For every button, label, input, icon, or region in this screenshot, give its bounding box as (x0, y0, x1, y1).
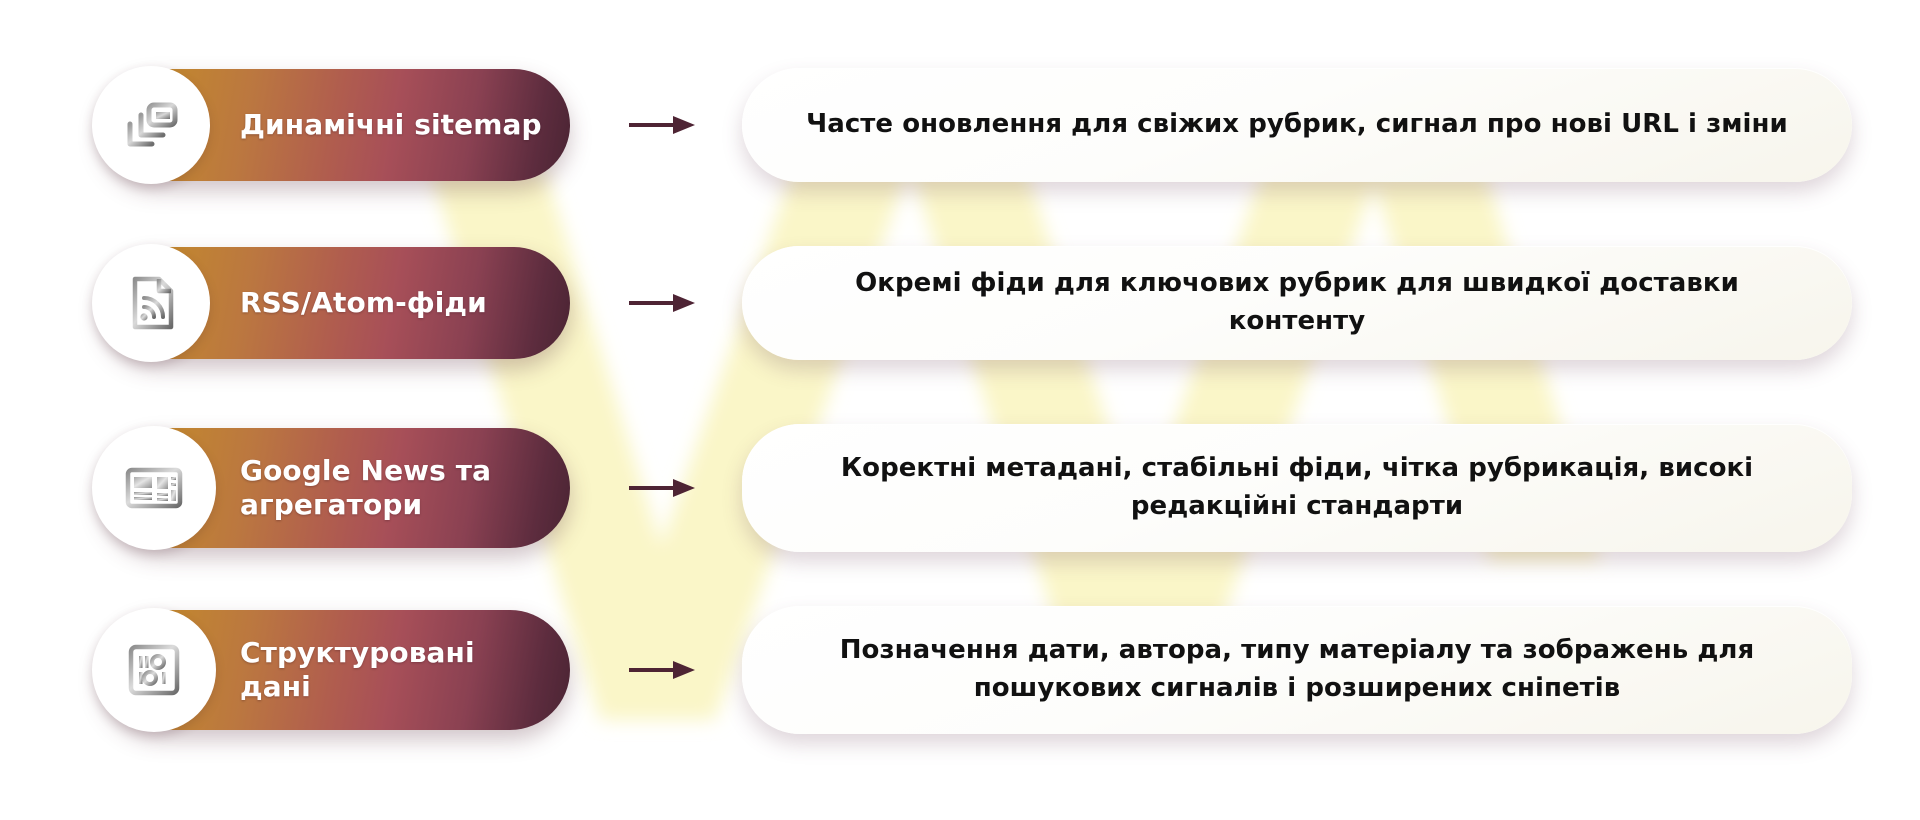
arrow-right-icon (612, 657, 712, 683)
arrow-right-icon (612, 475, 712, 501)
rss-feed-document-icon (92, 244, 210, 362)
category-pill-rss-atom-feeds[interactable]: RSS/Atom-фіди (100, 247, 570, 359)
description-card: Окремі фіди для ключових рубрик для швид… (742, 246, 1852, 360)
description-text: Позначення дати, автора, типу матеріалу … (788, 632, 1806, 708)
arrow-right-icon (612, 112, 712, 138)
description-card: Позначення дати, автора, типу матеріалу … (742, 606, 1852, 734)
flow-row: Структуровані дані Позначення дати, авто… (0, 600, 1920, 740)
flow-row: RSS/Atom-фіди Окремі фіди для ключових р… (0, 240, 1920, 366)
description-text: Часте оновлення для свіжих рубрик, сигна… (806, 106, 1788, 144)
category-pill-google-news-aggregators[interactable]: Google News та агрегатори (100, 428, 570, 548)
category-label: RSS/Atom-фіди (240, 286, 513, 320)
category-pill-dynamic-sitemap[interactable]: Динамічні sitemap (100, 69, 570, 181)
category-label: Google News та агрегатори (240, 454, 570, 522)
flow-row: Google News та агрегатори Коректні метад… (0, 418, 1920, 558)
flow-row: Динамічні sitemap Часте оновлення для св… (0, 62, 1920, 188)
description-text: Окремі фіди для ключових рубрик для швид… (788, 265, 1806, 341)
category-label: Структуровані дані (240, 636, 570, 704)
category-pill-structured-data[interactable]: Структуровані дані (100, 610, 570, 730)
category-label: Динамічні sitemap (240, 108, 568, 142)
description-card: Часте оновлення для свіжих рубрик, сигна… (742, 68, 1852, 182)
description-card: Коректні метадані, стабільні фіди, чітка… (742, 424, 1852, 552)
newspaper-icon (92, 426, 216, 550)
structured-data-binary-icon (92, 608, 216, 732)
arrow-right-icon (612, 290, 712, 316)
sitemap-icon (92, 66, 210, 184)
description-text: Коректні метадані, стабільні фіди, чітка… (788, 450, 1806, 526)
infographic-canvas: Динамічні sitemap Часте оновлення для св… (0, 0, 1920, 820)
